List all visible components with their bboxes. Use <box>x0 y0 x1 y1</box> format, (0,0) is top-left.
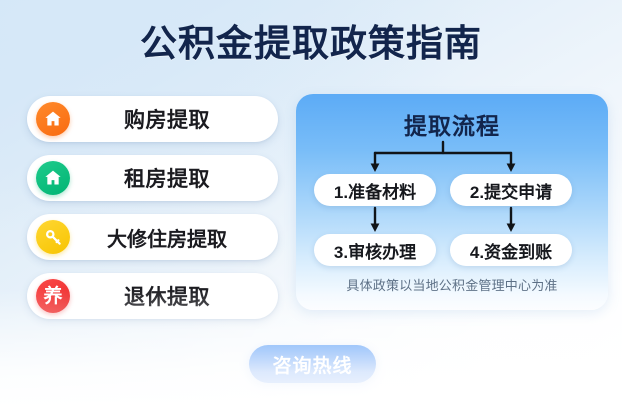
flow-disclaimer-note: 具体政策以当地公积金管理中心为准 <box>296 275 608 294</box>
flow-step-2[interactable]: 2.提交申请 <box>450 174 572 206</box>
house-icon <box>36 102 70 136</box>
category-list: 购房提取 租房提取 大修住房提取 <box>27 96 278 332</box>
category-label: 购房提取 <box>70 104 278 134</box>
pension-glyph: 养 <box>43 287 62 306</box>
flow-panel-title: 提取流程 <box>296 107 608 141</box>
key-icon <box>36 220 70 254</box>
category-label: 租房提取 <box>70 163 278 193</box>
page-title: 公积金提取政策指南 <box>0 21 622 67</box>
house-icon <box>36 161 70 195</box>
category-item-major-repair[interactable]: 大修住房提取 <box>27 214 278 260</box>
category-label: 退休提取 <box>70 281 278 311</box>
flow-panel: 提取流程 1.准备材料 2.提交申请 3.审核办理 4.资金到账 具体政策以当地… <box>296 94 608 310</box>
category-item-home-rental[interactable]: 租房提取 <box>27 155 278 201</box>
category-label: 大修住房提取 <box>70 223 278 252</box>
flow-step-4[interactable]: 4.资金到账 <box>450 234 572 266</box>
flow-step-3[interactable]: 3.审核办理 <box>314 234 436 266</box>
flow-step-1[interactable]: 1.准备材料 <box>314 174 436 206</box>
category-item-retirement[interactable]: 养 退休提取 <box>27 273 278 319</box>
hotline-button[interactable]: 咨询热线 <box>249 345 376 383</box>
category-item-home-purchase[interactable]: 购房提取 <box>27 96 278 142</box>
poster-canvas: 公积金提取政策指南 购房提取 租房提取 <box>0 0 622 408</box>
pension-icon: 养 <box>36 279 70 313</box>
